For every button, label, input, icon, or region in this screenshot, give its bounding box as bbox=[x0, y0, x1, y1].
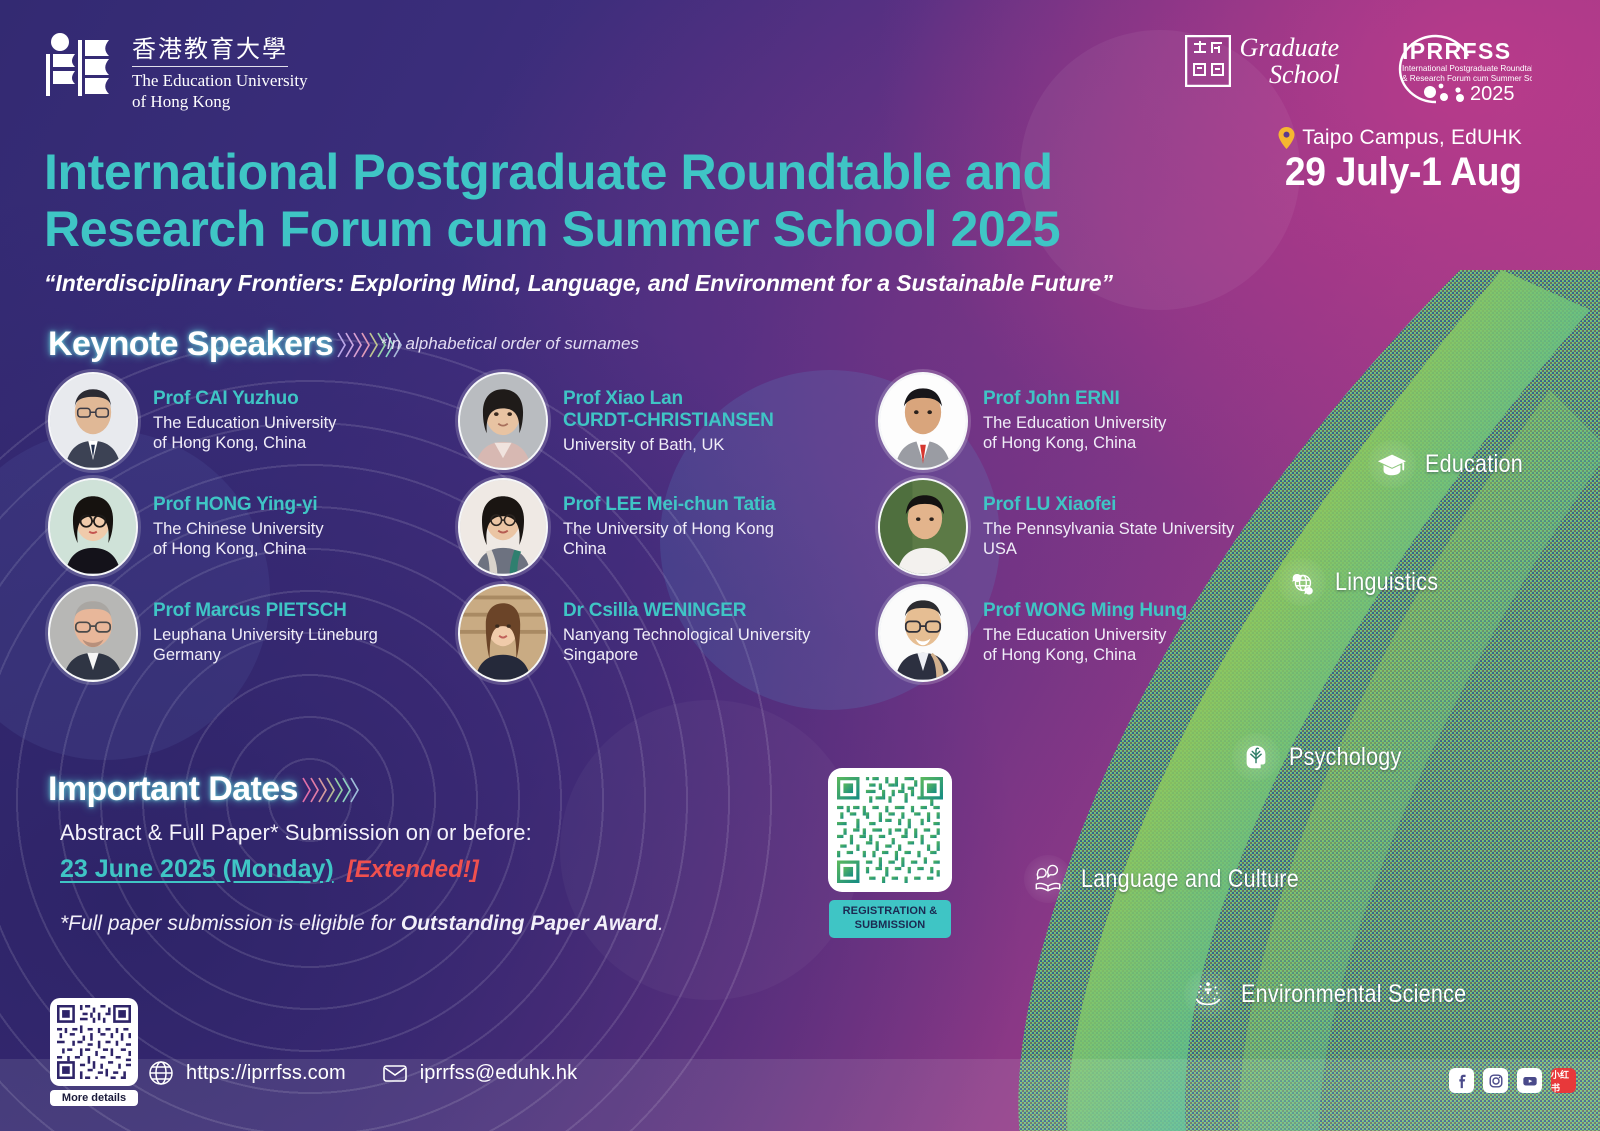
topic-psychology: Psychology bbox=[1232, 733, 1420, 781]
speaker-info: Dr Csilla WENINGER Nanyang Technological… bbox=[563, 584, 810, 665]
paper-award-note: *Full paper submission is eligible for O… bbox=[60, 912, 800, 936]
eduhk-logo-mark bbox=[42, 32, 116, 114]
footer-contacts: https://iprrfss.com iprrfss@eduhk.hk bbox=[148, 1060, 577, 1086]
speaker-card: Prof CAI Yuzhuo The Education University… bbox=[48, 372, 458, 470]
speaker-card: Prof John ERNI The Education University … bbox=[878, 372, 1318, 470]
speaker-avatar bbox=[458, 372, 548, 470]
speaker-info: Prof HONG Ying-yi The Chinese University… bbox=[153, 478, 324, 559]
graduate-school-seal-icon bbox=[1185, 35, 1231, 87]
venue-text: Taipo Campus, EdUHK bbox=[1302, 126, 1522, 150]
email-contact[interactable]: iprrfss@eduhk.hk bbox=[382, 1060, 578, 1086]
book-speech-icon bbox=[1024, 855, 1072, 903]
iprrfss-logo: IPRRFSS International Postgraduate Round… bbox=[1372, 28, 1532, 110]
speaker-info: Prof WONG Ming Hung The Education Univer… bbox=[983, 584, 1187, 665]
paper-award-note-suffix: . bbox=[658, 912, 664, 935]
speaker-name: Prof LU Xiaofei bbox=[983, 494, 1234, 516]
more-details-label: More details bbox=[50, 1090, 138, 1106]
page-subtitle: “Interdisciplinary Frontiers: Exploring … bbox=[44, 270, 1384, 297]
speaker-name: Prof Marcus PIETSCH bbox=[153, 600, 378, 622]
registration-qr-card[interactable] bbox=[828, 768, 952, 892]
speaker-row: Prof CAI Yuzhuo The Education University… bbox=[48, 372, 1338, 470]
iprrfss-subtitle-line2: & Research Forum cum Summer School bbox=[1402, 74, 1532, 83]
hand-plant-icon bbox=[1184, 970, 1232, 1018]
iprrfss-year-text: 2025 bbox=[1470, 83, 1515, 105]
speaker-name: Dr Csilla WENINGER bbox=[563, 600, 810, 622]
iprrfss-acronym-text: IPRRFSS bbox=[1402, 38, 1511, 64]
chevron-arrows-decoration bbox=[304, 777, 360, 803]
speaker-affiliation: The Education University of Hong Kong, C… bbox=[983, 413, 1166, 453]
speaker-card: Prof LEE Mei-chun Tatia The University o… bbox=[458, 478, 878, 576]
speaker-name: Prof Xiao Lan CURDT-CHRISTIANSEN bbox=[563, 388, 774, 432]
website-contact[interactable]: https://iprrfss.com bbox=[148, 1060, 346, 1086]
extended-badge: [Extended!] bbox=[347, 856, 479, 884]
email-address[interactable]: iprrfss@eduhk.hk bbox=[420, 1062, 578, 1085]
xiaohongshu-label: 小红书 bbox=[1551, 1068, 1576, 1094]
speaker-affiliation: The Chinese University of Hong Kong, Chi… bbox=[153, 519, 324, 559]
eduhk-english-name: The Education University of Hong Kong bbox=[132, 71, 308, 112]
speaker-row: Prof Marcus PIETSCH Leuphana University … bbox=[48, 584, 1338, 682]
speaker-affiliation: Leuphana University Lüneburg Germany bbox=[153, 625, 378, 665]
iprrfss-subtitle-line1: International Postgraduate Roundtable bbox=[1402, 64, 1532, 73]
paper-award-name: Outstanding Paper Award bbox=[401, 912, 658, 935]
speaker-avatar bbox=[458, 478, 548, 576]
deadline-row: 23 June 2025 (Monday) [Extended!] bbox=[60, 855, 800, 884]
topic-linguistics: Linguistics bbox=[1278, 558, 1455, 606]
speaker-name: Prof HONG Ying-yi bbox=[153, 494, 324, 516]
more-details-qr-block[interactable]: More details bbox=[50, 998, 138, 1106]
speaker-affiliation: The Pennsylvania State University USA bbox=[983, 519, 1234, 559]
more-details-qr-card[interactable] bbox=[50, 998, 138, 1086]
keynote-order-note: *In alphabetical order of surnames bbox=[380, 334, 639, 354]
speaker-card: Dr Csilla WENINGER Nanyang Technological… bbox=[458, 584, 878, 682]
globe-speech-icon bbox=[1278, 558, 1326, 606]
head-brain-icon bbox=[1232, 733, 1280, 781]
eduhk-logo: 香港教育大學 The Education University of Hong … bbox=[42, 32, 308, 114]
instagram-icon[interactable] bbox=[1483, 1068, 1508, 1093]
venue-info: Taipo Campus, EdUHK bbox=[1278, 126, 1522, 150]
graduate-school-logo: Graduate School bbox=[1185, 34, 1340, 88]
event-dates: 29 July-1 Aug bbox=[1285, 150, 1522, 195]
topic-label: Education bbox=[1425, 450, 1523, 479]
registration-qr-block[interactable]: REGISTRATION & SUBMISSION bbox=[828, 768, 952, 938]
topic-language-and-culture: Language and Culture bbox=[1024, 855, 1334, 903]
speaker-affiliation: University of Bath, UK bbox=[563, 435, 774, 455]
speaker-info: Prof LU Xiaofei The Pennsylvania State U… bbox=[983, 478, 1234, 559]
speaker-name: Prof CAI Yuzhuo bbox=[153, 388, 336, 410]
speaker-affiliation: The University of Hong Kong China bbox=[563, 519, 776, 559]
topic-label: Psychology bbox=[1289, 743, 1402, 772]
speaker-avatar bbox=[48, 372, 138, 470]
website-url[interactable]: https://iprrfss.com bbox=[186, 1062, 346, 1085]
speaker-info: Prof Xiao Lan CURDT-CHRISTIANSEN Univers… bbox=[563, 372, 774, 455]
topic-environmental-science: Environmental Science bbox=[1184, 970, 1503, 1018]
speaker-card: Prof Marcus PIETSCH Leuphana University … bbox=[48, 584, 458, 682]
xiaohongshu-icon[interactable]: 小红书 bbox=[1551, 1068, 1576, 1093]
speaker-info: Prof Marcus PIETSCH Leuphana University … bbox=[153, 584, 378, 665]
speaker-card: Prof HONG Ying-yi The Chinese University… bbox=[48, 478, 458, 576]
speaker-row: Prof HONG Ying-yi The Chinese University… bbox=[48, 478, 1338, 576]
eduhk-chinese-name: 香港教育大學 bbox=[132, 36, 288, 67]
speaker-avatar bbox=[878, 478, 968, 576]
globe-icon bbox=[148, 1060, 174, 1086]
topic-label: Language and Culture bbox=[1081, 865, 1299, 894]
speaker-avatar bbox=[48, 478, 138, 576]
location-pin-icon bbox=[1278, 127, 1295, 149]
important-dates-heading: Important Dates bbox=[48, 770, 360, 809]
speaker-affiliation: Nanyang Technological University Singapo… bbox=[563, 625, 810, 665]
speaker-info: Prof CAI Yuzhuo The Education University… bbox=[153, 372, 336, 453]
registration-qr-code[interactable] bbox=[837, 777, 943, 883]
poster-root: 香港教育大學 The Education University of Hong … bbox=[0, 0, 1600, 1131]
speaker-card: Prof Xiao Lan CURDT-CHRISTIANSEN Univers… bbox=[458, 372, 878, 470]
topic-label: Environmental Science bbox=[1241, 980, 1466, 1009]
speaker-avatar bbox=[458, 584, 548, 682]
topic-education: Education bbox=[1368, 440, 1539, 488]
envelope-icon bbox=[382, 1060, 408, 1086]
speaker-name: Prof LEE Mei-chun Tatia bbox=[563, 494, 776, 516]
page-title: International Postgraduate Roundtable an… bbox=[44, 144, 1244, 257]
graduate-school-line2: School bbox=[1239, 61, 1340, 88]
important-dates-body: Abstract & Full Paper* Submission on or … bbox=[60, 820, 800, 936]
speaker-avatar bbox=[878, 584, 968, 682]
more-details-qr-code[interactable] bbox=[57, 1005, 131, 1079]
youtube-icon[interactable] bbox=[1517, 1068, 1542, 1093]
keynote-speakers-heading: Keynote Speakers bbox=[48, 325, 403, 364]
deadline-date: 23 June 2025 (Monday) bbox=[60, 855, 334, 884]
speaker-info: Prof John ERNI The Education University … bbox=[983, 372, 1166, 453]
speaker-info: Prof LEE Mei-chun Tatia The University o… bbox=[563, 478, 776, 559]
graduate-school-wordmark: Graduate School bbox=[1239, 34, 1340, 88]
speaker-card: Prof WONG Ming Hung The Education Univer… bbox=[878, 584, 1318, 682]
paper-award-note-prefix: *Full paper submission is eligible for bbox=[60, 912, 401, 935]
speaker-avatar bbox=[878, 372, 968, 470]
speaker-affiliation: The Education University of Hong Kong, C… bbox=[153, 413, 336, 453]
speaker-card: Prof LU Xiaofei The Pennsylvania State U… bbox=[878, 478, 1318, 576]
registration-label[interactable]: REGISTRATION & SUBMISSION bbox=[829, 900, 951, 938]
keynote-speakers-grid: Prof CAI Yuzhuo The Education University… bbox=[48, 372, 1338, 690]
social-links[interactable]: 小红书 bbox=[1449, 1068, 1576, 1093]
facebook-icon[interactable] bbox=[1449, 1068, 1474, 1093]
speaker-name: Prof John ERNI bbox=[983, 388, 1166, 410]
speaker-avatar bbox=[48, 584, 138, 682]
speaker-affiliation: The Education University of Hong Kong, C… bbox=[983, 625, 1187, 665]
speaker-name: Prof WONG Ming Hung bbox=[983, 600, 1187, 622]
keynote-heading-label: Keynote Speakers bbox=[48, 325, 333, 364]
graduation-cap-icon bbox=[1368, 440, 1416, 488]
important-dates-label: Important Dates bbox=[48, 770, 298, 809]
topic-label: Linguistics bbox=[1335, 568, 1438, 597]
submission-line: Abstract & Full Paper* Submission on or … bbox=[60, 820, 800, 846]
graduate-school-line1: Graduate bbox=[1239, 34, 1340, 61]
